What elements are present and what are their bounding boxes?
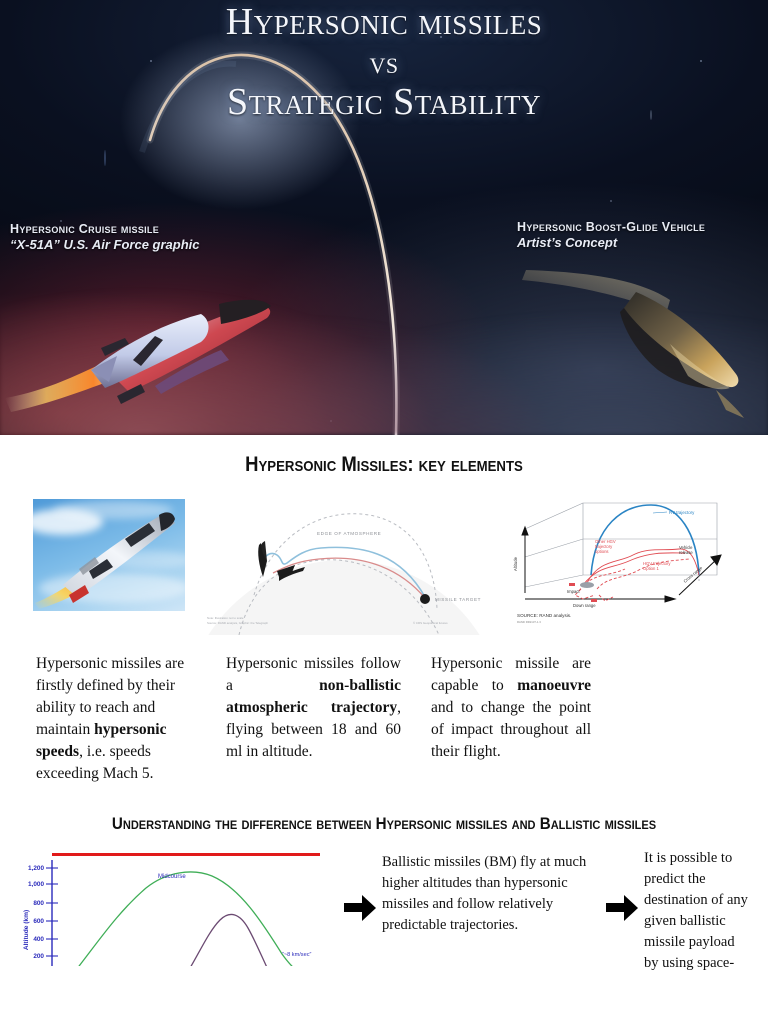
key-elements-heading: Hypersonic Missiles: key elements: [46, 453, 722, 477]
right-arrow-icon-2: [606, 894, 640, 920]
difference-section: Understanding the difference between Hyp…: [0, 815, 768, 974]
ballistic-trajectory-chart: 1,200 1,000 800 600 400 200 Altitude (km…: [6, 846, 336, 966]
key-elements-columns: Hypersonic missiles are firstly defined …: [0, 635, 768, 785]
hero-banner: Hypersonic missiles vs Strategic Stabili…: [0, 0, 768, 435]
x51a-cruise-missile-artwork: [5, 280, 295, 420]
column-definition: Hypersonic missiles are firstly defined …: [36, 653, 196, 785]
svg-text:1,200: 1,200: [28, 865, 44, 872]
svg-text:RAND RR2137-1.3: RAND RR2137-1.3: [517, 620, 541, 624]
svg-text:SOURCE: RAND analysis.: SOURCE: RAND analysis.: [517, 613, 571, 618]
svg-text:Altitude (km): Altitude (km): [23, 910, 30, 950]
svg-text:800: 800: [33, 900, 44, 907]
trajectory-schematic: EDGE OF ATMOSPHERE MISSILE TARGET Note: …: [199, 485, 489, 635]
page-title: Hypersonic missiles vs Strategic Stabili…: [0, 2, 768, 122]
svg-text:Down range: Down range: [573, 603, 596, 608]
caption-cruise-missile: Hypersonic Cruise missile “X-51A” U.S. A…: [10, 222, 200, 253]
caption-cruise-missile-subtitle: “X-51A” U.S. Air Force graphic: [10, 237, 200, 253]
missile-illustration: [33, 499, 185, 611]
caption-cruise-missile-title: Hypersonic Cruise missile: [10, 222, 200, 237]
svg-text:Impact: Impact: [567, 589, 580, 594]
prediction-paragraph: It is possible to predict the destinatio…: [644, 848, 750, 974]
column-trajectory: Hypersonic missiles follow a non-ballist…: [226, 653, 401, 785]
svg-text:Source: RAND analysis, Graphic: Source: RAND analysis, Graphic: the Tele…: [207, 621, 268, 625]
svg-text:200: 200: [33, 953, 44, 960]
thumbnail-rand-diagram: RV trajectory Other HGV trajectory optio…: [503, 499, 735, 629]
thumbnail-row: EDGE OF ATMOSPHERE MISSILE TARGET Note: …: [0, 477, 768, 635]
difference-row: 1,200 1,000 800 600 400 200 Altitude (km…: [0, 846, 768, 974]
col3-seg3: and to change the point of impact throug…: [431, 699, 591, 760]
col3-seg2: manoeuvre: [517, 677, 591, 694]
right-arrow-icon-1: [344, 894, 378, 920]
svg-text:© CRS Geopolitical futures: © CRS Geopolitical futures: [413, 621, 448, 625]
caption-boost-glide-title: Hypersonic Boost-Glide Vehicle: [517, 220, 705, 235]
svg-text:1,000: 1,000: [28, 881, 44, 888]
svg-text:Altitude: Altitude: [513, 556, 518, 571]
svg-text:400: 400: [33, 936, 44, 943]
title-line-1: Hypersonic missiles: [0, 2, 768, 42]
svg-text:RV trajectory: RV trajectory: [669, 510, 695, 515]
boost-glide-vehicle-artwork: [520, 270, 768, 420]
svg-text:MISSILE TARGET: MISSILE TARGET: [435, 597, 481, 602]
svg-text:EDGE OF ATMOSPHERE: EDGE OF ATMOSPHERE: [317, 531, 381, 536]
caption-boost-glide-subtitle: Artist’s Concept: [517, 235, 705, 251]
difference-heading: Understanding the difference between Hyp…: [31, 815, 738, 834]
svg-text:Midcourse: Midcourse: [158, 874, 186, 880]
title-line-3: Strategic Stability: [0, 82, 768, 122]
svg-text:Note: Illustration not to scal: Note: Illustration not to scale: [207, 616, 244, 620]
thumbnail-hypersonic-missile-photo: [33, 499, 185, 611]
svg-text:options: options: [595, 549, 609, 554]
title-line-2: vs: [0, 46, 768, 80]
svg-text:“~8 km/sec”: “~8 km/sec”: [282, 952, 312, 958]
svg-text:600: 600: [33, 918, 44, 925]
thumbnail-trajectory-schematic: EDGE OF ATMOSPHERE MISSILE TARGET Note: …: [199, 485, 489, 635]
svg-text:release: release: [679, 550, 693, 555]
rand-hgv-rv-diagram: RV trajectory Other HGV trajectory optio…: [503, 499, 735, 629]
chart-canvas: 1,200 1,000 800 600 400 200 Altitude (km…: [6, 846, 336, 966]
ballistic-missile-paragraph: Ballistic missiles (BM) fly at much high…: [382, 852, 600, 974]
column-manoeuvrability: Hypersonic missile are capable to manoeu…: [431, 653, 591, 785]
key-elements-section: Hypersonic Missiles: key elements: [0, 435, 768, 785]
svg-text:Option 1: Option 1: [643, 566, 660, 571]
caption-boost-glide-vehicle: Hypersonic Boost-Glide Vehicle Artist’s …: [517, 220, 705, 251]
